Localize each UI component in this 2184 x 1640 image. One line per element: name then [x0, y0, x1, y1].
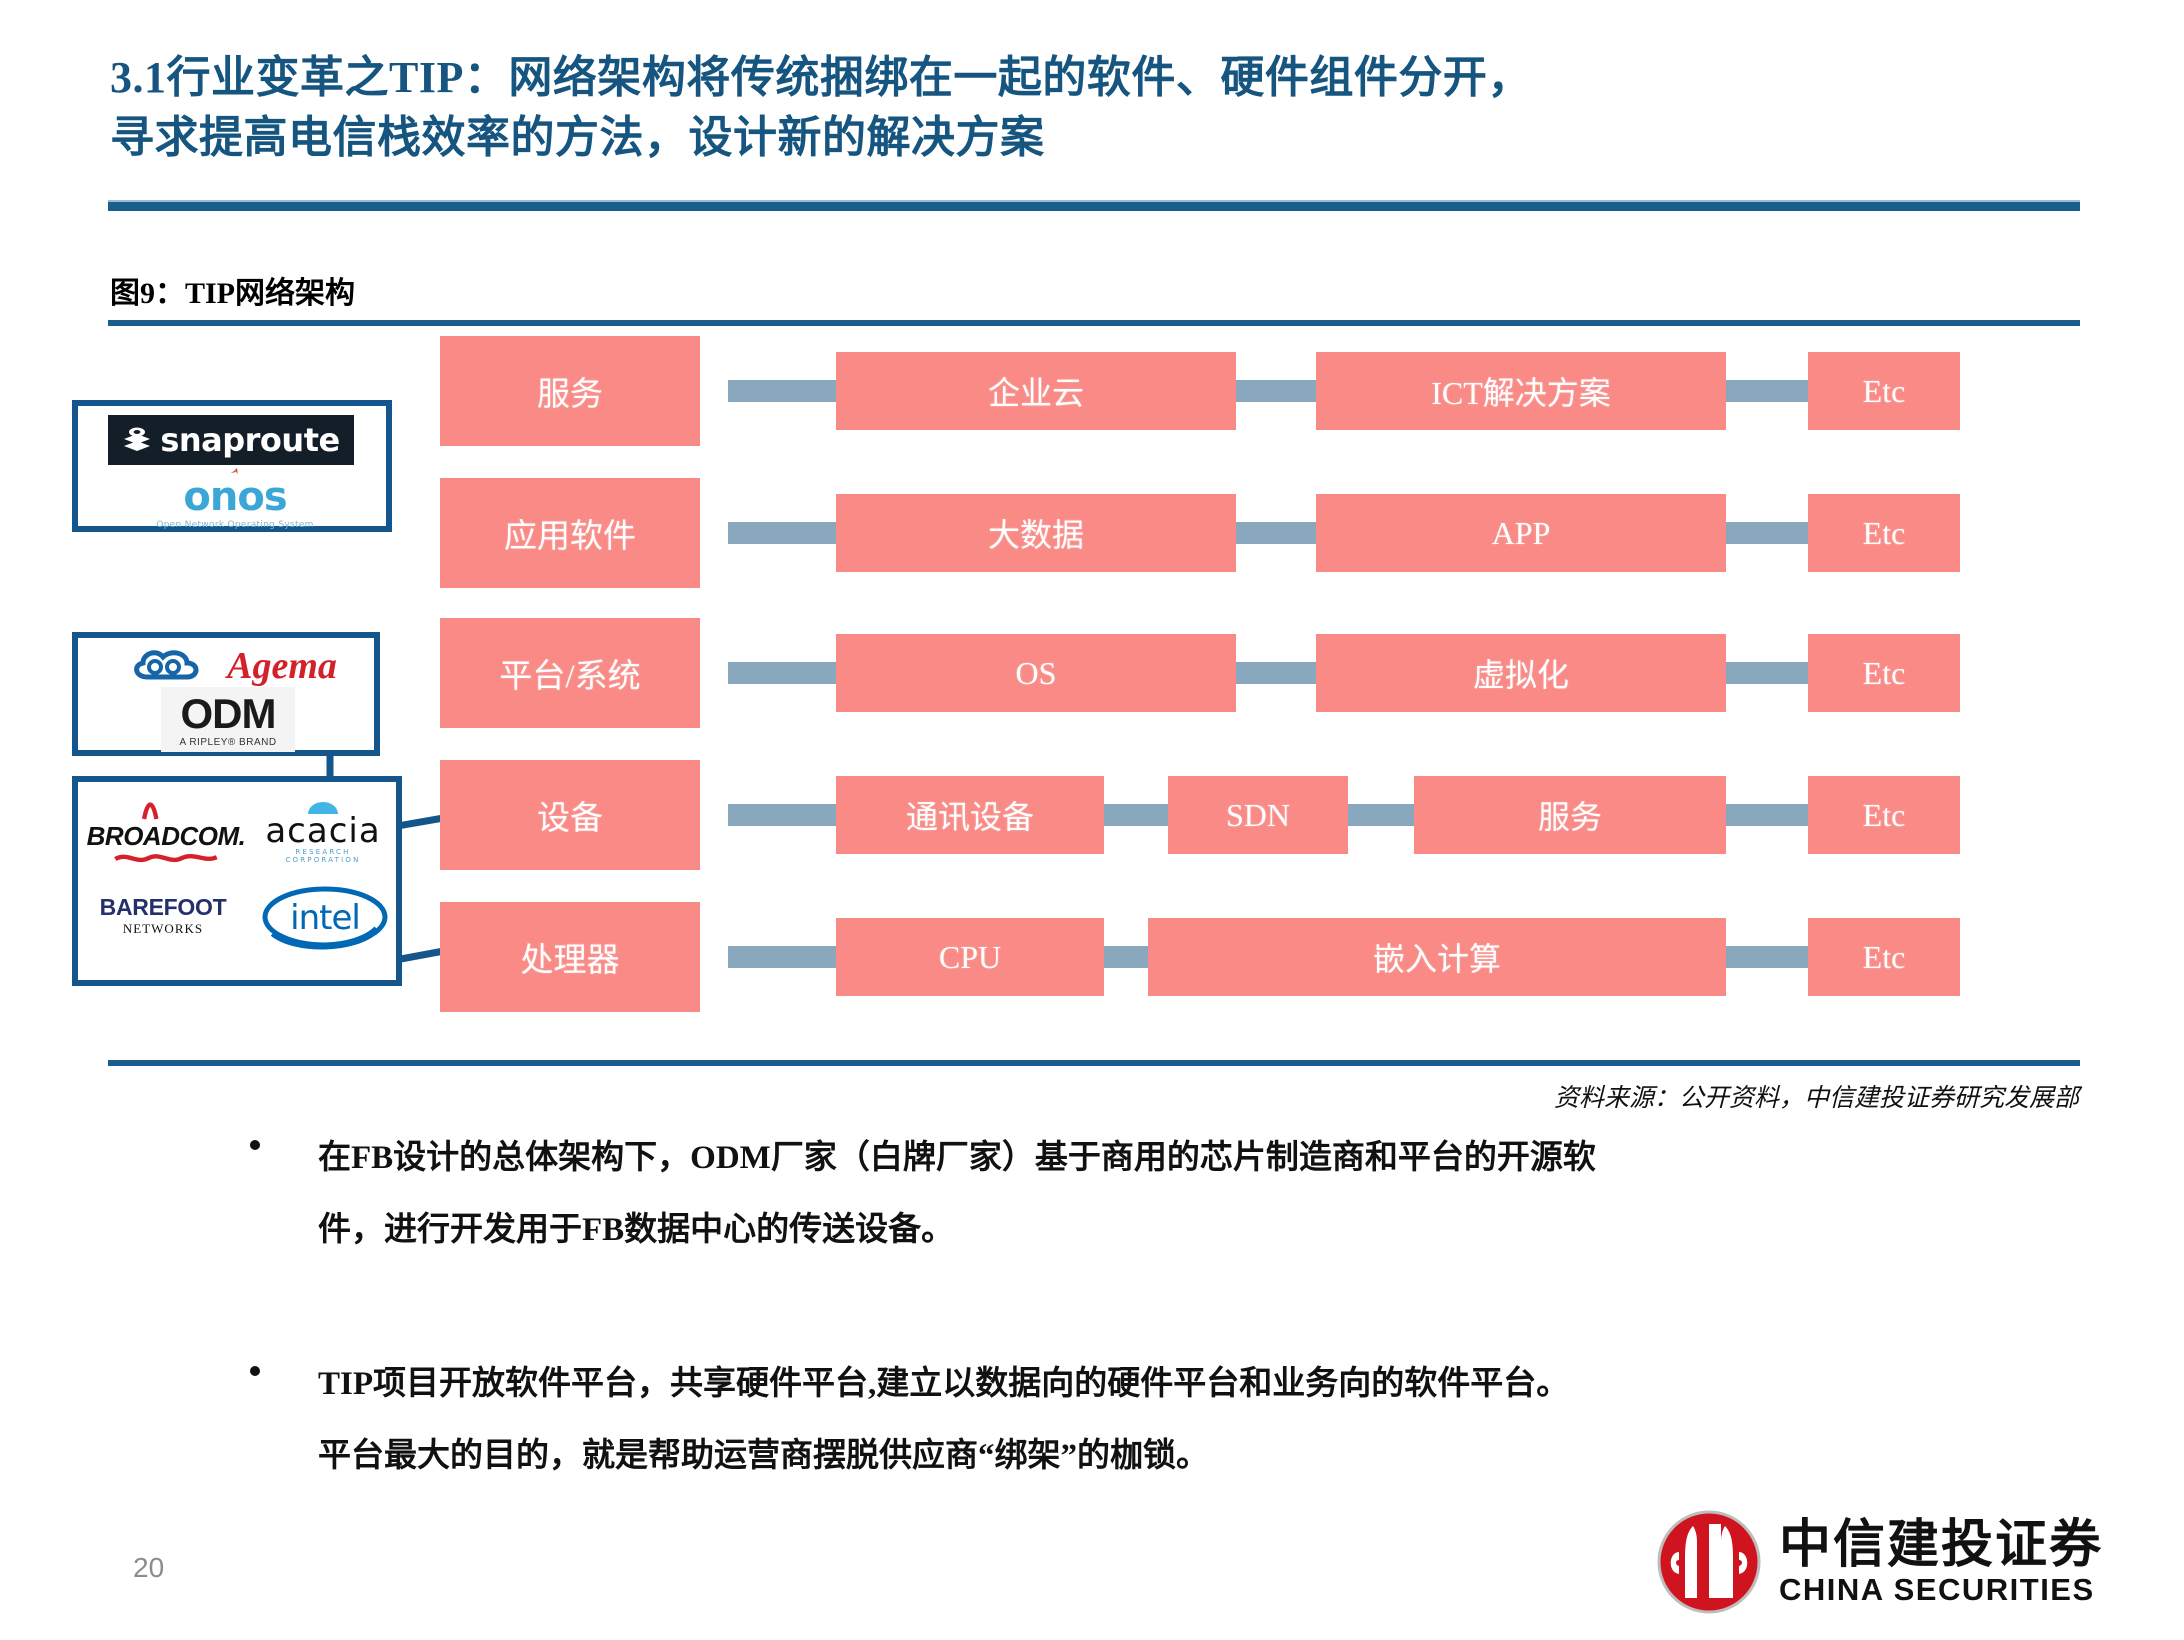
connector-4-0 [728, 946, 836, 968]
odm-tagline: A RIPLEY® BRAND [179, 737, 276, 748]
tip-architecture-diagram: snaproute onos Open Network Operating Sy… [0, 336, 2184, 1066]
layer-label-3: 设备 [440, 760, 700, 870]
node-1-1: APP [1316, 494, 1726, 572]
layer-label-0: 服务 [440, 336, 700, 446]
node-1-2: Etc [1808, 494, 1960, 572]
diagram-row-4: 处理器 CPU 嵌入计算 Etc [0, 902, 2184, 1012]
layer-label-1: 应用软件 [440, 478, 700, 588]
node-3-2: 服务 [1414, 776, 1726, 854]
layer-label-2: 平台/系统 [440, 618, 700, 728]
connector-0-1 [1236, 380, 1316, 402]
bullet-item-1: TIP项目开放软件平台，共享硬件平台,建立以数据向的硬件平台和业务向的软件平台。… [250, 1348, 2130, 1492]
brand-name-en: CHINA SECURITIES [1779, 1573, 2103, 1607]
brand-name-cn: 中信建投证券 [1779, 1517, 2103, 1573]
connector-2-0 [728, 662, 836, 684]
node-3-3: Etc [1808, 776, 1960, 854]
diagram-row-3: 设备 通讯设备 SDN 服务 Etc [0, 760, 2184, 870]
bullet-dot-icon-1 [250, 1366, 260, 1376]
connector-1-0 [728, 522, 836, 544]
title-divider [108, 200, 2080, 211]
node-0-0: 企业云 [836, 352, 1236, 430]
title-line-2: 寻求提高电信栈效率的方法，设计新的解决方案 [110, 108, 2100, 168]
connector-3-1 [1104, 804, 1168, 826]
source-divider [108, 1060, 2080, 1066]
node-3-1: SDN [1168, 776, 1348, 854]
diagram-row-2: 平台/系统 OS 虚拟化 Etc [0, 618, 2184, 728]
bullet-0-line-2: 件，进行开发用于FB数据中心的传送设备。 [318, 1194, 2130, 1266]
connector-3-3 [1726, 804, 1808, 826]
connector-2-2 [1726, 662, 1808, 684]
node-2-0: OS [836, 634, 1236, 712]
page-number: 20 [133, 1552, 164, 1584]
connector-1-1 [1236, 522, 1316, 544]
connector-3-2 [1348, 804, 1414, 826]
connector-4-2 [1726, 946, 1808, 968]
connector-0-2 [1726, 380, 1808, 402]
node-2-1: 虚拟化 [1316, 634, 1726, 712]
figure-caption: 图9：TIP网络架构 [110, 268, 355, 312]
bullet-1-line-2: 平台最大的目的，就是帮助运营商摆脱供应商“绑架”的枷锁。 [318, 1420, 2130, 1492]
node-2-2: Etc [1808, 634, 1960, 712]
bullet-dot-icon-0 [250, 1140, 260, 1150]
node-4-0: CPU [836, 918, 1104, 996]
node-3-0: 通讯设备 [836, 776, 1104, 854]
connector-2-1 [1236, 662, 1316, 684]
diagram-row-0: 服务 企业云 ICT解决方案 Etc [0, 336, 2184, 446]
connector-3-0 [728, 804, 836, 826]
diagram-row-1: 应用软件 大数据 APP Etc [0, 478, 2184, 588]
node-1-0: 大数据 [836, 494, 1236, 572]
brand-logo: 中信建投证券 CHINA SECURITIES [1655, 1508, 2103, 1616]
layer-label-4: 处理器 [440, 902, 700, 1012]
connector-0-0 [728, 380, 836, 402]
csc-roundel-icon [1655, 1508, 1763, 1616]
node-4-1: 嵌入计算 [1148, 918, 1726, 996]
bullet-item-0: 在FB设计的总体架构下，ODM厂家（白牌厂家）基于商用的芯片制造商和平台的开源软… [250, 1122, 2130, 1266]
source-text: 资料来源：公开资料，中信建投证券研究发展部 [1554, 1078, 2079, 1114]
connector-1-2 [1726, 522, 1808, 544]
node-0-2: Etc [1808, 352, 1960, 430]
bullet-1-line-1: TIP项目开放软件平台，共享硬件平台,建立以数据向的硬件平台和业务向的软件平台。 [318, 1348, 2130, 1420]
page-title: 3.1行业变革之TIP：网络架构将传统捆绑在一起的软件、硬件组件分开， 寻求提高… [110, 48, 2100, 168]
bullet-0-line-1: 在FB设计的总体架构下，ODM厂家（白牌厂家）基于商用的芯片制造商和平台的开源软 [318, 1122, 2130, 1194]
figure-divider [108, 320, 2080, 326]
node-4-2: Etc [1808, 918, 1960, 996]
connector-4-1 [1104, 946, 1148, 968]
node-0-1: ICT解决方案 [1316, 352, 1726, 430]
title-line-1: 3.1行业变革之TIP：网络架构将传统捆绑在一起的软件、硬件组件分开， [110, 48, 2100, 108]
